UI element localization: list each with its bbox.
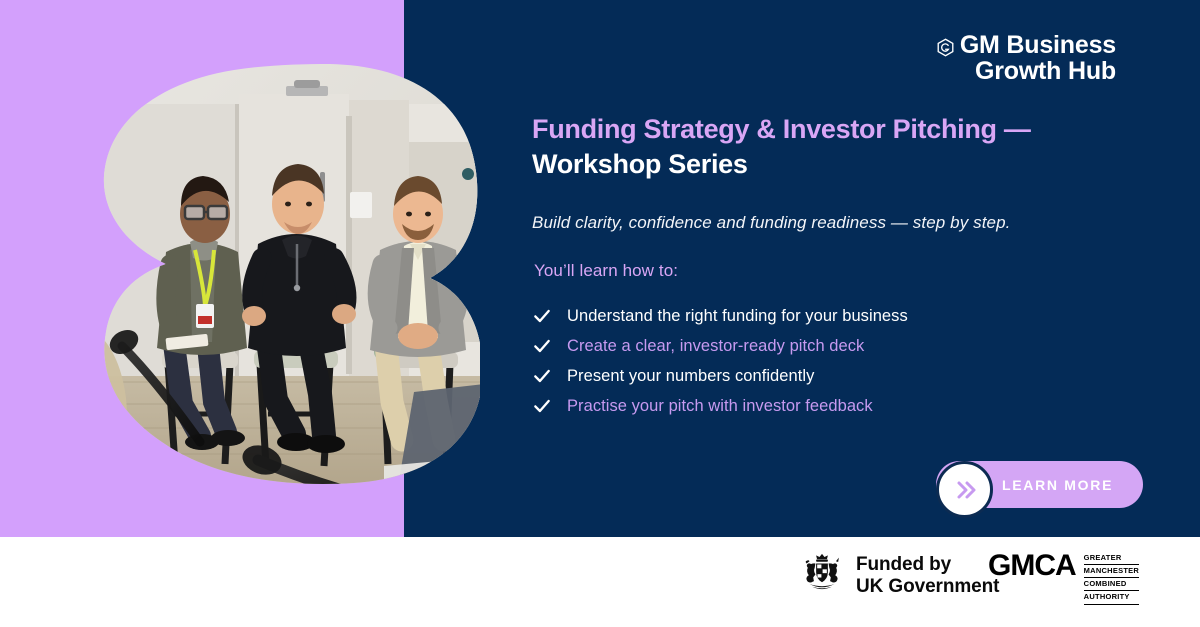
subheadline: Build clarity, confidence and funding re… <box>532 213 1132 233</box>
logo-wordmark: GM Business Growth Hub <box>960 32 1116 84</box>
list-item: Create a clear, investor-ready pitch dec… <box>532 331 1132 361</box>
page-title: Funding Strategy & Investor Pitching — W… <box>532 112 1132 181</box>
check-icon <box>532 396 552 416</box>
uk-royal-coat-of-arms-icon <box>800 551 844 600</box>
gmca-wordmark: GMCA <box>988 551 1076 581</box>
headline-line-1: Funding Strategy & Investor Pitching — <box>532 112 1132 147</box>
list-item-label: Present your numbers confidently <box>567 367 814 386</box>
list-item: Understand the right funding for your bu… <box>532 301 1132 331</box>
double-chevron-right-icon[interactable] <box>936 461 993 518</box>
gm-business-growth-hub-logo: GM Business Growth Hub <box>936 32 1116 84</box>
list-item-label: Create a clear, investor-ready pitch dec… <box>567 337 864 356</box>
list-item-label: Practise your pitch with investor feedba… <box>567 397 873 416</box>
funded-by-wordmark: Funded by UK Government <box>856 554 999 598</box>
check-icon <box>532 306 552 326</box>
list-item: Practise your pitch with investor feedba… <box>532 391 1132 421</box>
copy-block: Funding Strategy & Investor Pitching — W… <box>532 112 1132 421</box>
gmca-line-2: MANCHESTER <box>1084 565 1139 578</box>
gmca-logo: GMCA GREATER MANCHESTER COMBINED AUTHORI… <box>988 551 1139 605</box>
check-icon <box>532 366 552 386</box>
check-icon <box>532 336 552 356</box>
learn-more-label: LEARN MORE <box>1002 477 1113 493</box>
benefits-list: Understand the right funding for your bu… <box>532 301 1132 421</box>
hexagon-g-icon <box>936 38 955 62</box>
gmca-subtitle: GREATER MANCHESTER COMBINED AUTHORITY <box>1084 552 1139 605</box>
gmca-line-4: AUTHORITY <box>1084 591 1139 604</box>
learn-more-button[interactable]: LEARN MORE <box>936 461 1143 508</box>
logo-line-2: Growth Hub <box>960 58 1116 84</box>
gmca-line-1: GREATER <box>1084 552 1139 565</box>
learn-list-label: You’ll learn how to: <box>534 261 1132 281</box>
headline-line-2: Workshop Series <box>532 147 1132 182</box>
logo-line-1: GM Business <box>960 32 1116 58</box>
promo-banner: GM Business Growth Hub Funding Strategy … <box>0 0 1200 627</box>
funded-by-uk-government-logo: Funded by UK Government <box>800 551 999 600</box>
gmca-line-3: COMBINED <box>1084 578 1139 591</box>
funded-line-1: Funded by <box>856 554 999 576</box>
list-item-label: Understand the right funding for your bu… <box>567 307 908 326</box>
list-item: Present your numbers confidently <box>532 361 1132 391</box>
funded-line-2: UK Government <box>856 576 999 598</box>
